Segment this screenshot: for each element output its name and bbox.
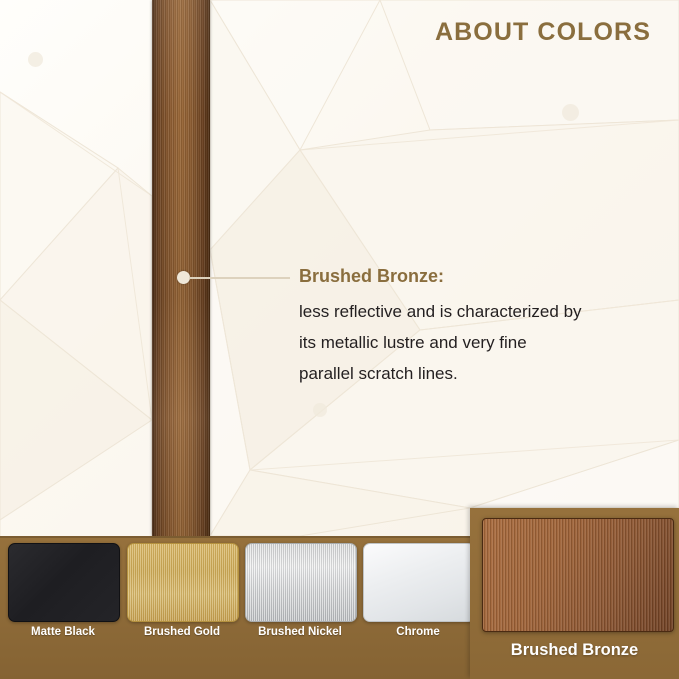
swatch-label-matte-black: Matte Black [8, 626, 118, 638]
swatch-label-chrome: Chrome [363, 626, 473, 638]
swatch-label-brushed-nickel: Brushed Nickel [245, 626, 355, 638]
swatch-label-brushed-gold: Brushed Gold [127, 626, 237, 638]
decorative-dot [562, 104, 579, 121]
strip-sheen-overlay [152, 0, 210, 536]
swatch-brushed-gold[interactable] [127, 543, 239, 622]
swatch-label-brushed-bronze: Brushed Bronze [470, 641, 679, 660]
brushed-bronze-door-strip [152, 0, 210, 536]
page-title: ABOUT COLORS [435, 18, 651, 47]
decorative-dot [28, 52, 43, 67]
callout-body: less reflective and is characterized by … [299, 296, 659, 389]
callout-leader-line [189, 277, 290, 279]
callout-heading: Brushed Bronze: [299, 266, 444, 287]
swatch-chrome[interactable] [363, 543, 475, 622]
swatch-matte-black[interactable] [8, 543, 120, 622]
callout-body-line: its metallic lustre and very fine [299, 327, 659, 358]
infographic-canvas: ABOUT COLORS Brushed Bronze: less reflec… [0, 0, 679, 679]
callout-body-line: less reflective and is characterized by [299, 296, 659, 327]
callout-body-line: parallel scratch lines. [299, 358, 659, 389]
swatch-brushed-nickel[interactable] [245, 543, 357, 622]
swatch-brushed-bronze[interactable] [482, 518, 674, 632]
decorative-dot [313, 403, 327, 417]
